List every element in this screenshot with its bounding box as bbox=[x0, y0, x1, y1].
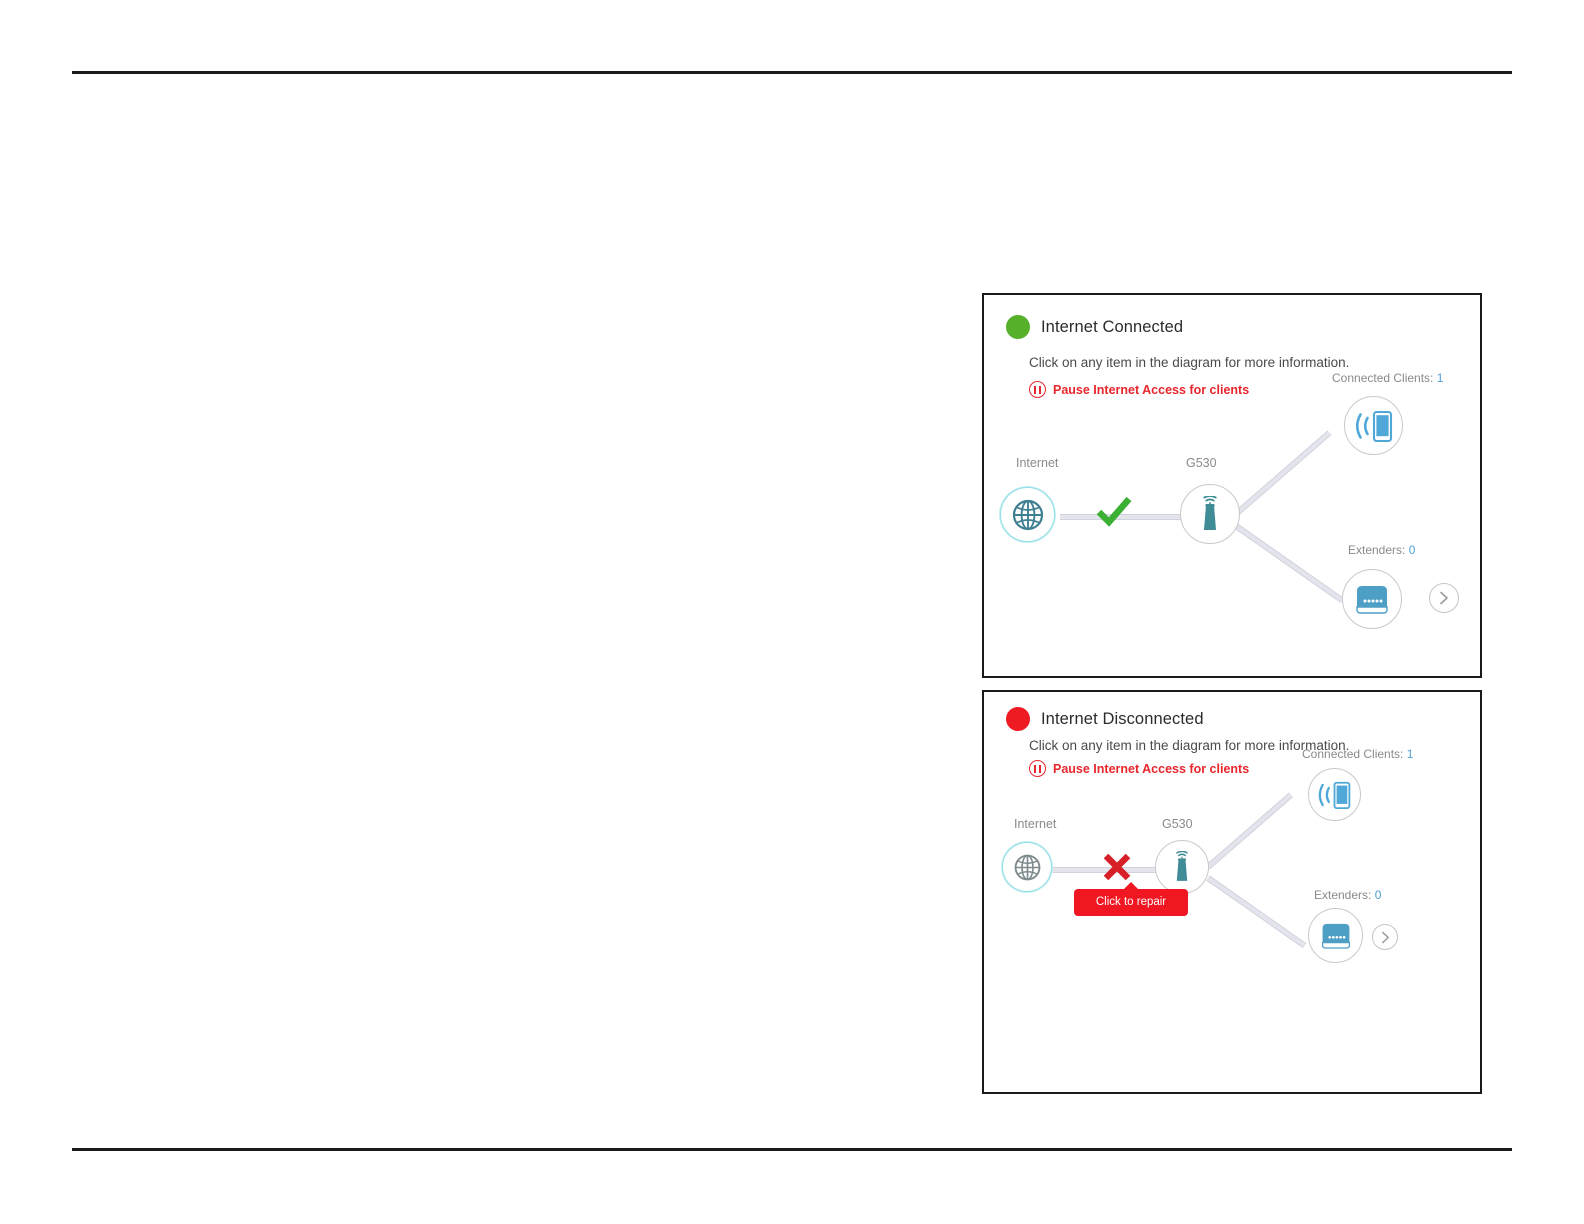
extenders-value: 0 bbox=[1409, 543, 1416, 557]
connected-clients-count: Connected Clients: 1 bbox=[1332, 371, 1443, 385]
extender-node[interactable] bbox=[1308, 908, 1363, 963]
panel-internet-disconnected: Internet Disconnected Click on any item … bbox=[982, 690, 1482, 1094]
internet-node-label: Internet bbox=[1014, 817, 1056, 831]
router-node[interactable] bbox=[1155, 840, 1209, 894]
network-diagram-connected: Internet G530 bbox=[984, 295, 1480, 676]
router-icon bbox=[1195, 496, 1225, 532]
extenders-value: 0 bbox=[1375, 888, 1382, 902]
connected-clients-value: 1 bbox=[1407, 747, 1414, 761]
connected-clients-value: 1 bbox=[1437, 371, 1444, 385]
network-diagram-disconnected: Internet Click to repair G530 bbox=[984, 692, 1480, 1092]
wireless-client-icon bbox=[1317, 780, 1352, 810]
globe-icon bbox=[1011, 498, 1045, 532]
extender-node[interactable] bbox=[1342, 569, 1402, 629]
wireless-client-icon bbox=[1354, 409, 1394, 443]
link-router-client bbox=[1234, 430, 1332, 516]
chevron-right-icon bbox=[1380, 931, 1391, 944]
router-node-label: G530 bbox=[1162, 817, 1193, 831]
link-router-client bbox=[1206, 793, 1293, 870]
chevron-right-icon bbox=[1438, 591, 1450, 605]
panel-internet-connected: Internet Connected Click on any item in … bbox=[982, 293, 1482, 678]
extenders-count: Extenders: 0 bbox=[1314, 888, 1381, 902]
internet-node[interactable] bbox=[1000, 487, 1055, 542]
header-rule bbox=[72, 71, 1512, 74]
extenders-label: Extenders: bbox=[1348, 543, 1405, 557]
link-router-extender bbox=[1234, 524, 1344, 603]
extenders-label: Extenders: bbox=[1314, 888, 1371, 902]
connected-clients-node[interactable] bbox=[1308, 768, 1361, 821]
router-node[interactable] bbox=[1180, 484, 1240, 544]
globe-icon bbox=[1013, 853, 1042, 882]
connection-ok-check-icon bbox=[1096, 496, 1132, 528]
internet-node-label: Internet bbox=[1016, 456, 1058, 470]
extenders-count: Extenders: 0 bbox=[1348, 543, 1415, 557]
router-icon bbox=[1169, 851, 1195, 883]
connected-clients-label: Connected Clients: bbox=[1332, 371, 1433, 385]
extender-icon bbox=[1319, 921, 1353, 950]
click-to-repair-button[interactable]: Click to repair bbox=[1074, 889, 1188, 916]
extender-icon bbox=[1353, 583, 1391, 615]
link-router-extender bbox=[1206, 876, 1306, 949]
connected-clients-node[interactable] bbox=[1344, 396, 1403, 455]
router-node-label: G530 bbox=[1186, 456, 1217, 470]
internet-node[interactable] bbox=[1002, 842, 1052, 892]
footer-rule bbox=[72, 1148, 1512, 1151]
connection-error-x-icon bbox=[1101, 851, 1133, 883]
connected-clients-label: Connected Clients: bbox=[1302, 747, 1403, 761]
next-page-button[interactable] bbox=[1429, 583, 1459, 613]
connected-clients-count: Connected Clients: 1 bbox=[1302, 747, 1413, 761]
next-page-button[interactable] bbox=[1372, 924, 1398, 950]
